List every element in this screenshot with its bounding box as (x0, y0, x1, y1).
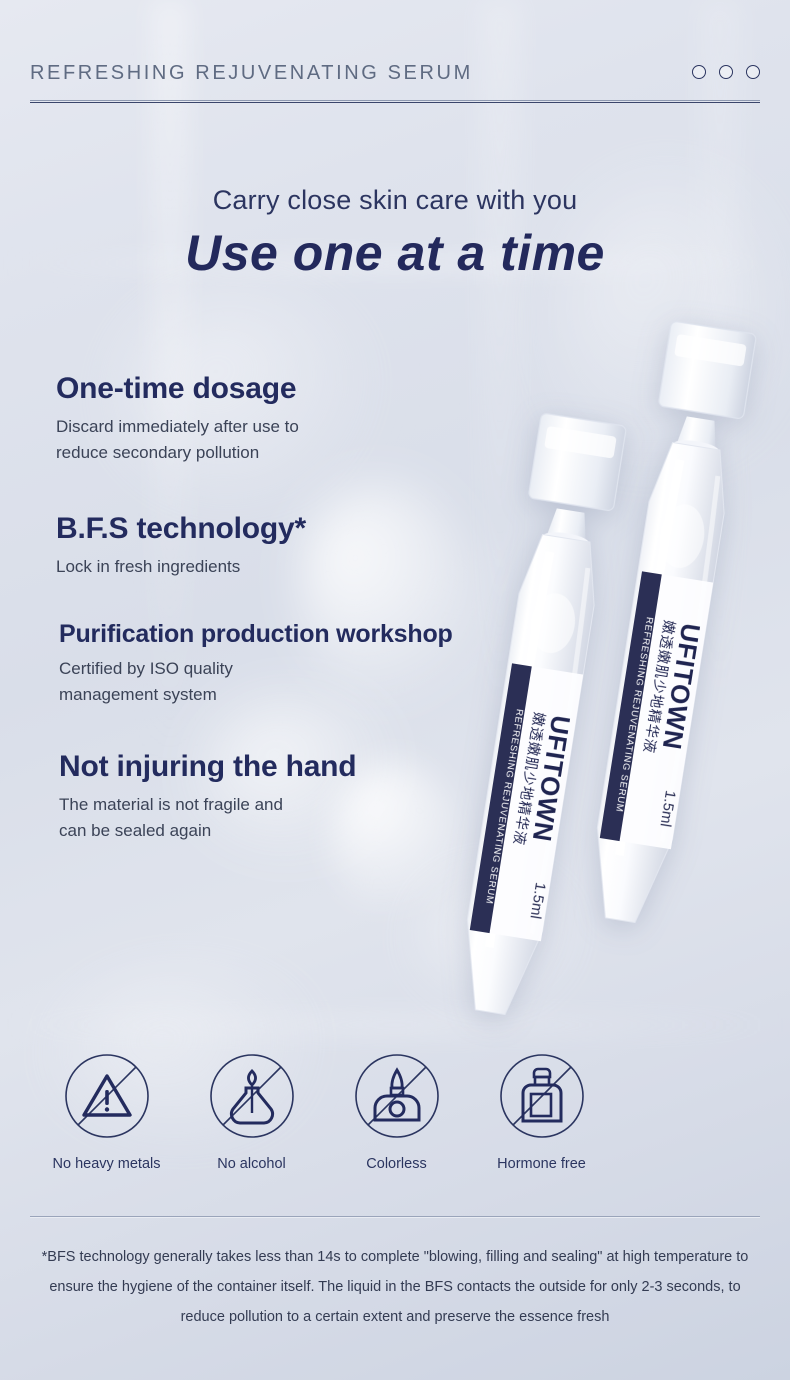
feature-list: One-time dosage Discard immediately afte… (56, 372, 526, 867)
feature-item: B.F.S technology* Lock in fresh ingredie… (56, 512, 526, 580)
circle-outline-icon (746, 65, 760, 79)
header-divider (30, 100, 760, 103)
footer-divider (30, 1216, 760, 1218)
dropper-bottle-no-icon (353, 1052, 441, 1140)
page-title: REFRESHING REJUVENATING SERUM (30, 62, 473, 85)
hero-headline: Use one at a time (0, 224, 790, 282)
badge-colorless: Colorless (324, 1052, 469, 1172)
hero-subtitle: Carry close skin care with you (0, 185, 790, 216)
feature-item: Not injuring the hand The material is no… (56, 750, 526, 844)
badge-no-heavy-metals: No heavy metals (34, 1052, 179, 1172)
header-dots-group (692, 65, 760, 79)
warning-triangle-no-icon (63, 1052, 151, 1140)
infographic-page: REFRESHING REJUVENATING SERUM Carry clos… (0, 0, 790, 1380)
badge-row: No heavy metals No alcohol Colorless (34, 1052, 614, 1172)
badge-hormone-free: Hormone free (469, 1052, 614, 1172)
circle-outline-icon (719, 65, 733, 79)
badge-no-alcohol: No alcohol (179, 1052, 324, 1172)
medicine-bottle-no-icon (498, 1052, 586, 1140)
page-header: REFRESHING REJUVENATING SERUM (0, 62, 790, 122)
feature-item: One-time dosage Discard immediately afte… (56, 372, 526, 466)
feature-item: Purification production workshop Certifi… (56, 620, 526, 708)
feature-title: Not injuring the hand (59, 750, 526, 785)
feature-description: Certified by ISO quality management syst… (59, 656, 526, 709)
feature-description: The material is not fragile and can be s… (59, 792, 526, 845)
footnote-text: *BFS technology generally takes less tha… (40, 1242, 750, 1332)
feature-description: Lock in fresh ingredients (56, 554, 526, 580)
alcohol-burner-no-icon (208, 1052, 296, 1140)
badge-label: Hormone free (469, 1156, 614, 1172)
circle-outline-icon (692, 65, 706, 79)
badge-label: Colorless (324, 1156, 469, 1172)
hero-section: Carry close skin care with you Use one a… (0, 185, 790, 282)
badge-label: No heavy metals (34, 1156, 179, 1172)
feature-title: One-time dosage (56, 372, 526, 407)
feature-title: B.F.S technology* (56, 512, 526, 547)
feature-description: Discard immediately after use to reduce … (56, 414, 526, 467)
badge-label: No alcohol (179, 1156, 324, 1172)
feature-title: Purification production workshop (59, 620, 526, 649)
